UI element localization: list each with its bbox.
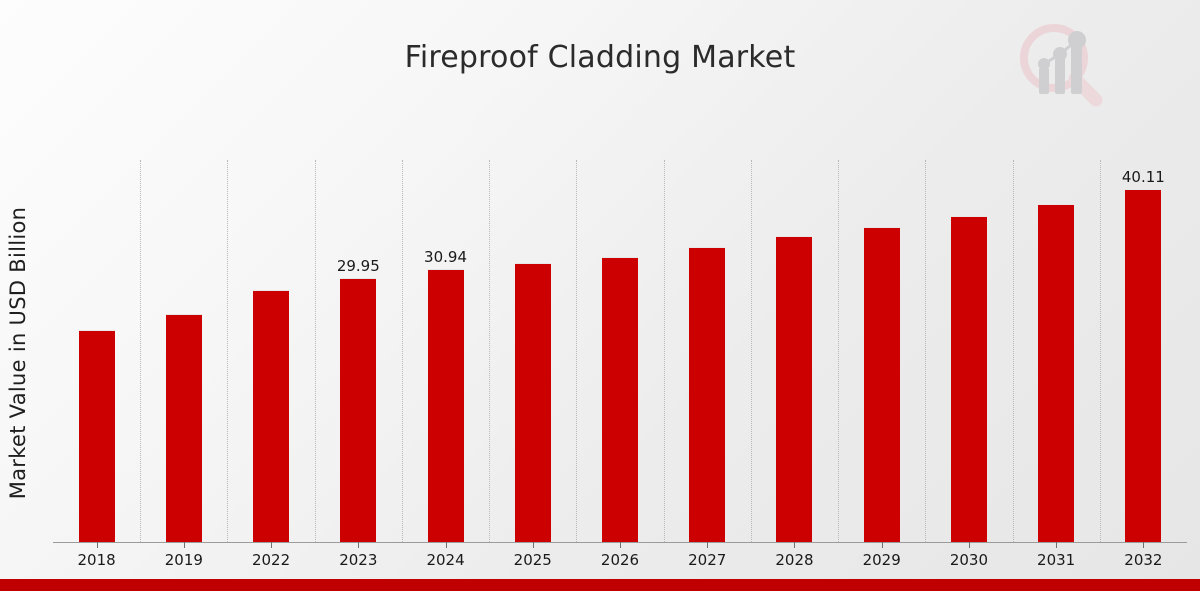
x-tick-label-2026: 2026	[580, 551, 660, 569]
y-axis-title-wrap: Market Value in USD Billion	[0, 160, 36, 545]
gridline	[402, 160, 403, 542]
bar-value-label-2024: 30.94	[406, 248, 486, 266]
x-tick-label-2019: 2019	[144, 551, 224, 569]
bar-2029[interactable]	[864, 227, 900, 542]
bar-2022[interactable]	[253, 290, 289, 542]
gridline	[227, 160, 228, 542]
logo-watermark-icon	[1012, 18, 1108, 110]
gridline	[489, 160, 490, 542]
gridline	[925, 160, 926, 542]
plot-area: 29.9530.9440.11	[53, 160, 1187, 542]
gridline	[1013, 160, 1014, 542]
gridline	[838, 160, 839, 542]
gridline	[140, 160, 141, 542]
footer-white-strip	[0, 591, 1200, 600]
chart-figure: Fireproof Cladding Market Market Value i…	[0, 0, 1200, 600]
bar-2031[interactable]	[1038, 204, 1074, 542]
gridline	[576, 160, 577, 542]
x-tick-2024	[446, 542, 447, 548]
x-tick-2028	[794, 542, 795, 548]
bar-2032[interactable]	[1125, 189, 1161, 542]
x-tick-label-2024: 2024	[406, 551, 486, 569]
x-tick-label-2023: 2023	[318, 551, 398, 569]
x-tick-2018	[97, 542, 98, 548]
x-tick-label-2029: 2029	[842, 551, 922, 569]
x-tick-label-2027: 2027	[667, 551, 747, 569]
magnifier-bar-chart-icon	[1012, 18, 1108, 110]
x-tick-2019	[184, 542, 185, 548]
x-tick-label-2025: 2025	[493, 551, 573, 569]
x-tick-label-2030: 2030	[929, 551, 1009, 569]
x-tick-2026	[620, 542, 621, 548]
bar-2025[interactable]	[515, 263, 551, 542]
y-axis-title: Market Value in USD Billion	[6, 206, 30, 499]
bar-2023[interactable]	[340, 278, 376, 542]
x-tick-2029	[882, 542, 883, 548]
x-tick-2022	[271, 542, 272, 548]
x-tick-2030	[969, 542, 970, 548]
gridline	[664, 160, 665, 542]
gridline	[315, 160, 316, 542]
x-tick-2031	[1056, 542, 1057, 548]
bar-value-label-2023: 29.95	[318, 257, 398, 275]
x-tick-2032	[1143, 542, 1144, 548]
x-tick-label-2028: 2028	[754, 551, 834, 569]
x-tick-label-2031: 2031	[1016, 551, 1096, 569]
bar-2026[interactable]	[602, 257, 638, 542]
x-tick-2025	[533, 542, 534, 548]
bar-2030[interactable]	[951, 216, 987, 542]
bar-2018[interactable]	[79, 330, 115, 542]
bar-2027[interactable]	[689, 247, 725, 542]
bar-2019[interactable]	[166, 314, 202, 542]
x-tick-2023	[358, 542, 359, 548]
gridline	[751, 160, 752, 542]
x-tick-label-2032: 2032	[1103, 551, 1183, 569]
x-tick-label-2022: 2022	[231, 551, 311, 569]
bar-2028[interactable]	[776, 236, 812, 542]
bar-value-label-2032: 40.11	[1103, 168, 1183, 186]
x-tick-label-2018: 2018	[57, 551, 137, 569]
x-tick-2027	[707, 542, 708, 548]
gridline	[1100, 160, 1101, 542]
bar-2024[interactable]	[428, 269, 464, 542]
footer-accent-bar	[0, 579, 1200, 591]
